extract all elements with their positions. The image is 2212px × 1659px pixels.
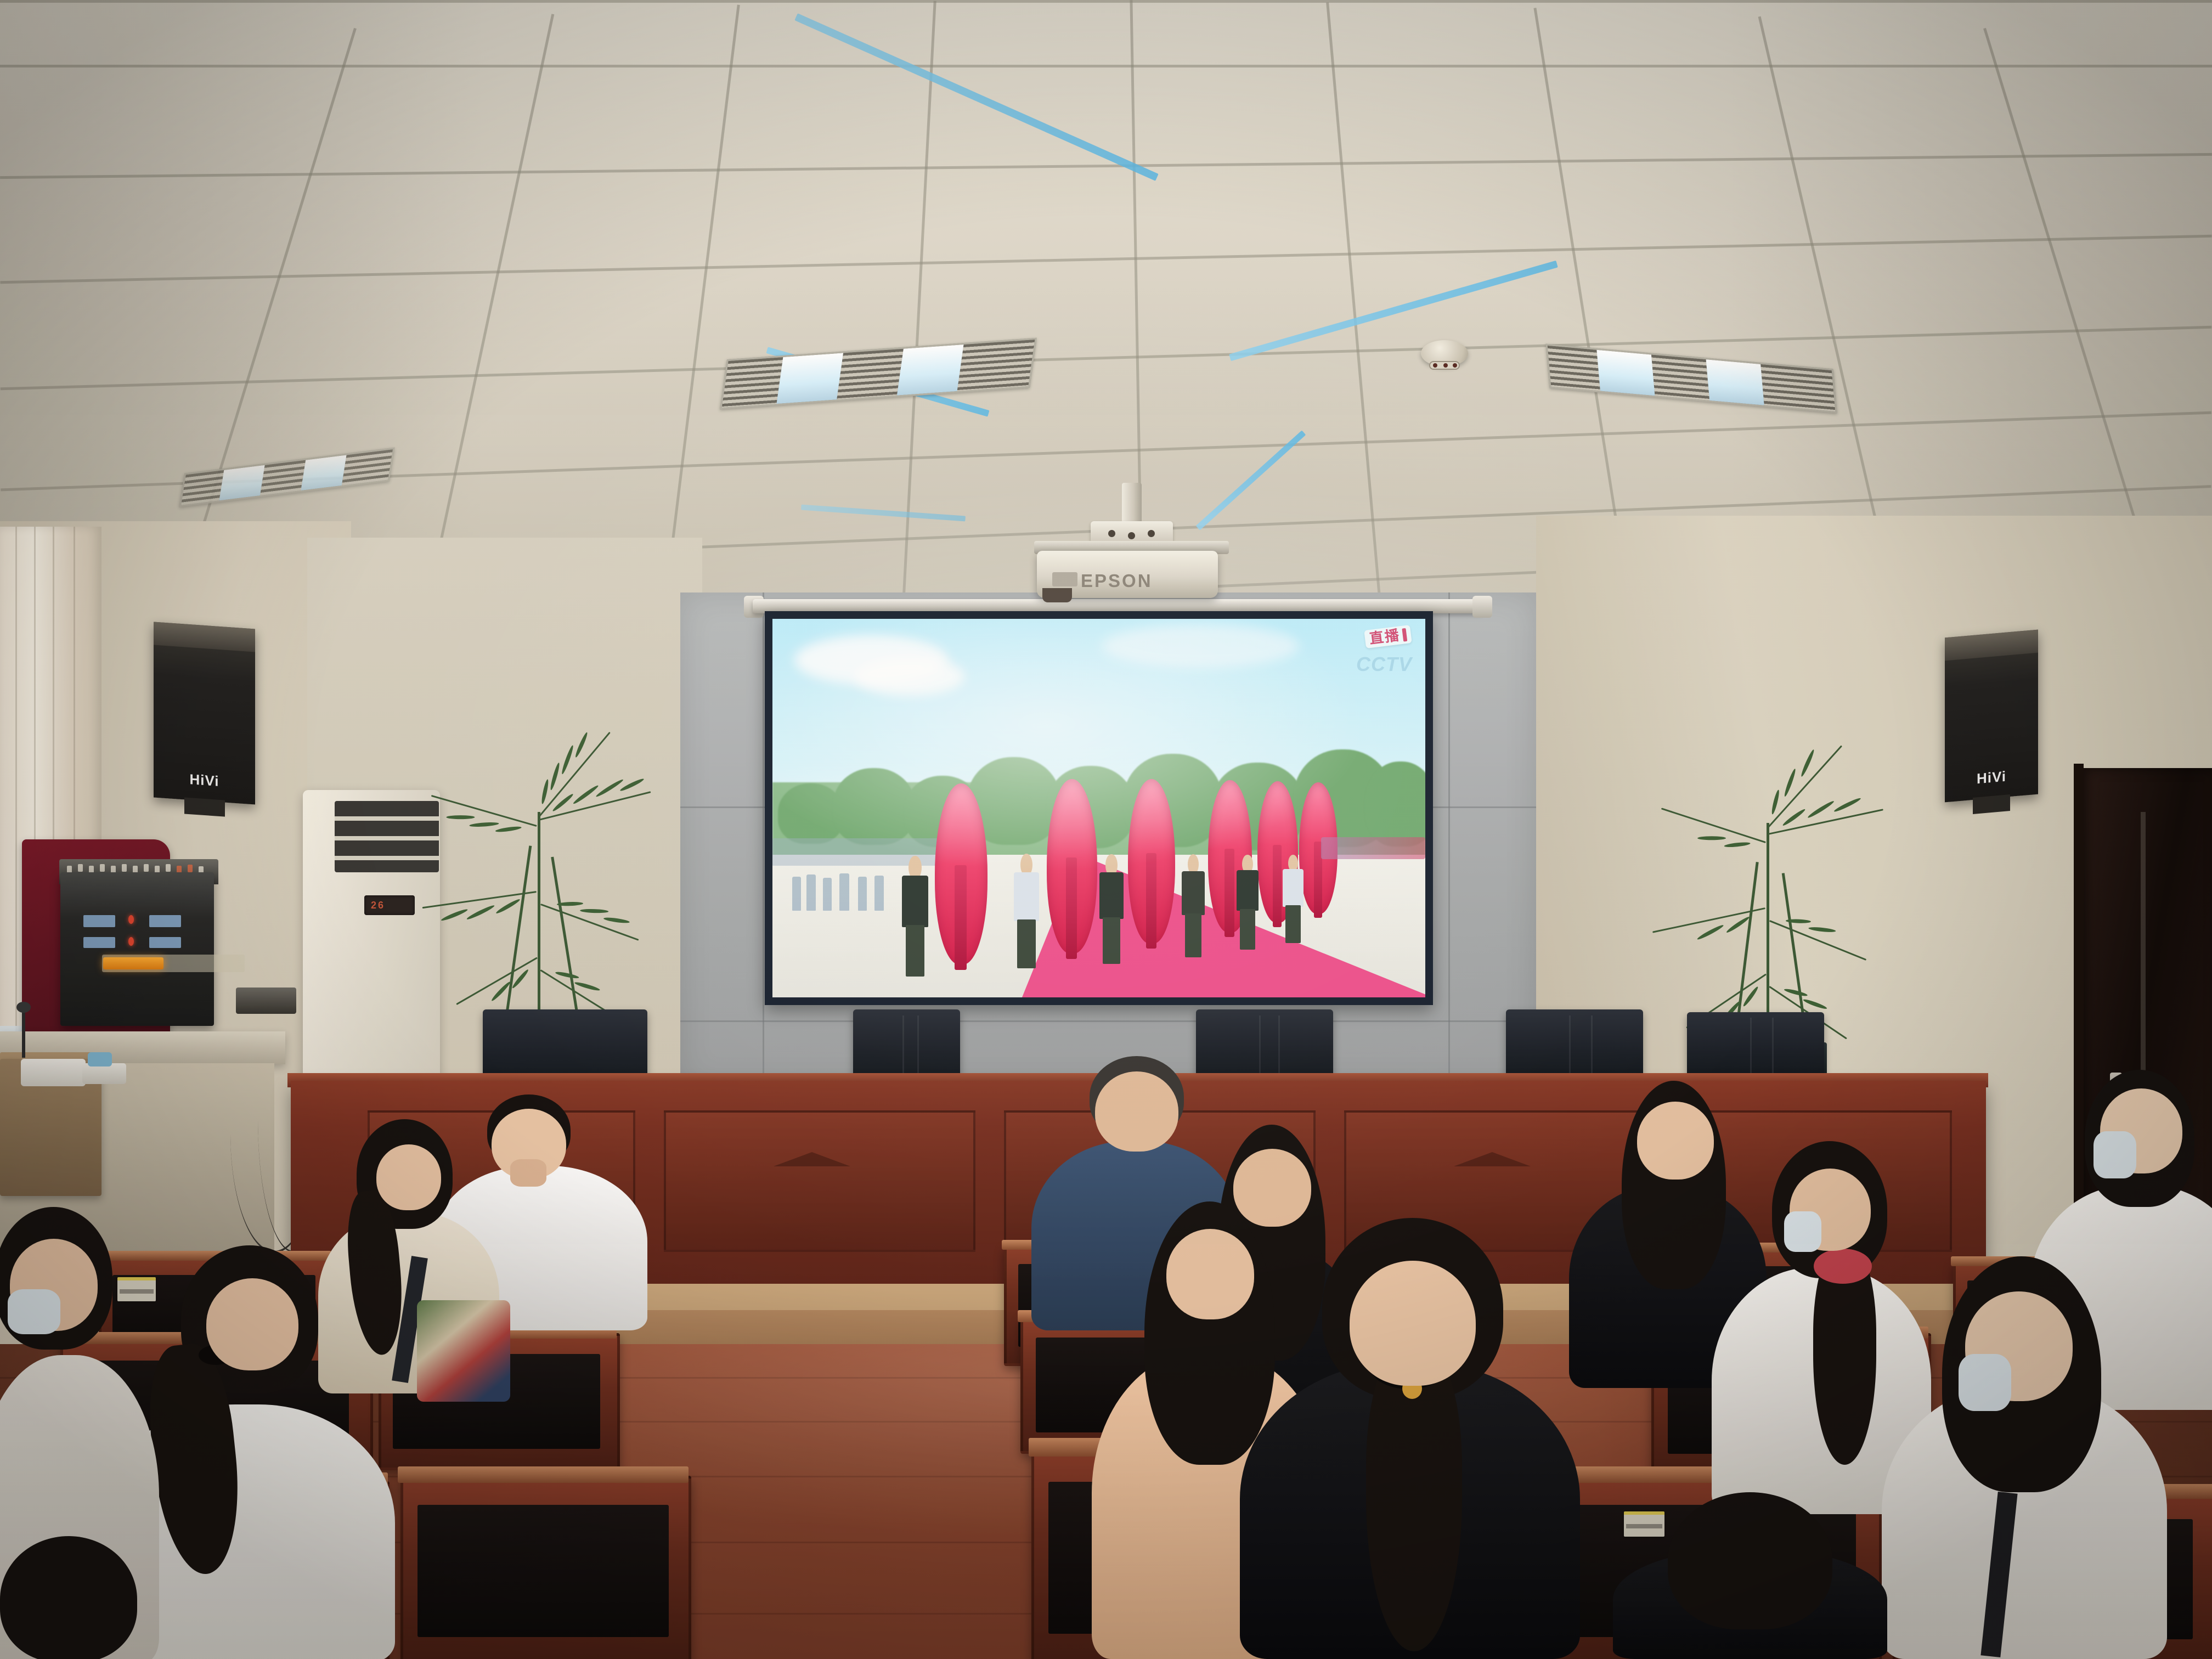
- speaker-brand-label-left: HiVi: [154, 769, 255, 793]
- wreath: [935, 783, 988, 964]
- projector-lens-icon: [1042, 588, 1072, 602]
- door-trim-vertical: [2141, 812, 2146, 1092]
- honour-guard: [902, 876, 928, 974]
- attendee-partial-bottom-left: [0, 1536, 154, 1659]
- cctv-watermark: CCTV: [1356, 653, 1412, 676]
- projector-mount-pole: [1122, 483, 1142, 526]
- attendee-woman-front-right: [1882, 1256, 2167, 1659]
- blue-object: [88, 1052, 112, 1066]
- bench-row-1-center-left[interactable]: [400, 1476, 686, 1659]
- attendee-woman-bottom-center: [1613, 1492, 1887, 1659]
- wall-speaker-right: HiVi: [1945, 630, 2038, 803]
- patterned-bag: [417, 1300, 510, 1402]
- projection-screen: 直播 CCTV: [765, 611, 1433, 1005]
- attendee-woman-foreground: [1240, 1218, 1580, 1659]
- projector-brand-label: EPSON: [1081, 571, 1153, 591]
- speaker-brand-label-right: HiVi: [1945, 765, 2038, 791]
- mixer-status-indicator: [103, 957, 163, 969]
- audio-mixer[interactable]: [60, 872, 214, 1026]
- microphone-stem-icon: [22, 1008, 25, 1058]
- conference-hall-photo: 直播 CCTV EPSON HiVi HiVi 26: [0, 0, 2212, 1659]
- exec-chair-4[interactable]: [1506, 1009, 1643, 1084]
- live-broadcast-badge: 直播: [1364, 625, 1412, 648]
- ac-temperature-value: 26: [371, 900, 385, 911]
- epson-logo-mark-icon: [1052, 572, 1077, 586]
- potted-palm-left: [400, 647, 686, 1064]
- live-badge-label: 直播: [1368, 627, 1401, 647]
- wall-speaker-left: HiVi: [154, 622, 255, 805]
- screen-roller-end-right: [1472, 596, 1492, 618]
- white-equipment-box: [21, 1059, 86, 1086]
- broadcast-video-frame: 直播 CCTV: [772, 619, 1425, 997]
- microphone-icon: [16, 1002, 31, 1013]
